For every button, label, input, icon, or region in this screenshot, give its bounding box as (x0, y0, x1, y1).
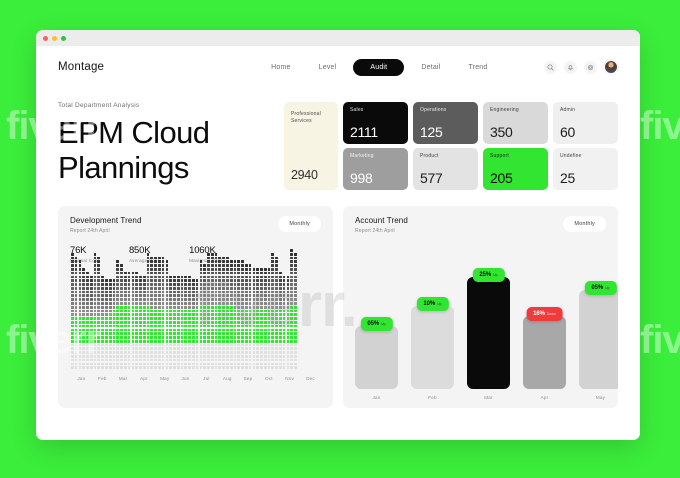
dot-column (279, 272, 282, 369)
development-trend-panel: Development Trend Report 24th April Mont… (58, 206, 333, 408)
brand-logo[interactable]: Montage (58, 61, 104, 73)
dot-cell (283, 347, 286, 350)
dot-cell (150, 310, 153, 313)
stat-card-marketing[interactable]: Marketing 998 (343, 148, 408, 190)
dot-cell (222, 306, 225, 309)
dot-cell (279, 276, 282, 279)
dot-cell (181, 310, 184, 313)
dot-cell (260, 298, 263, 301)
dot-cell (132, 291, 135, 294)
dot-cell (105, 310, 108, 313)
dot-cell (234, 336, 237, 339)
dot-cell (150, 279, 153, 282)
dot-cell (97, 351, 100, 354)
dot-cell (253, 283, 256, 286)
dot-cell (79, 264, 82, 267)
dot-cell (222, 332, 225, 335)
dot-cell (226, 363, 229, 366)
dot-column (290, 249, 293, 369)
bar-group[interactable]: 10%UpFeb (411, 306, 454, 400)
dot-cell (207, 306, 210, 309)
dot-cell (287, 291, 290, 294)
dot-cell (75, 321, 78, 324)
bar-group[interactable]: 25%UpMar (467, 277, 510, 400)
dot-cell (116, 268, 119, 271)
dot-cell (222, 313, 225, 316)
dot-cell (71, 276, 74, 279)
dot-cell (79, 321, 82, 324)
dot-cell (143, 317, 146, 320)
dot-cell (268, 336, 271, 339)
dot-cell (203, 276, 206, 279)
dot-cell (173, 313, 176, 316)
stat-value: 125 (420, 125, 442, 139)
dot-cell (154, 276, 157, 279)
dot-cell (211, 302, 214, 305)
dot-cell (147, 294, 150, 297)
dot-cell (203, 306, 206, 309)
dot-cell (268, 363, 271, 366)
dot-cell (275, 287, 278, 290)
dot-cell (192, 351, 195, 354)
dot-cell (234, 344, 237, 347)
dot-cell (79, 268, 82, 271)
dot-cell (271, 283, 274, 286)
period-selector-monthly[interactable]: Monthly (563, 216, 606, 232)
dot-cell (290, 291, 293, 294)
close-icon[interactable] (43, 36, 48, 41)
dot-cell (253, 363, 256, 366)
dot-cell (109, 298, 112, 301)
dot-cell (116, 325, 119, 328)
dot-cell (71, 260, 74, 263)
dot-cell (94, 287, 97, 290)
dot-cell (120, 359, 123, 362)
bar[interactable]: 10%Up (411, 306, 454, 389)
dot-cell (143, 279, 146, 282)
dot-cell (188, 344, 191, 347)
dot-cell (256, 336, 259, 339)
dot-cell (230, 329, 233, 332)
watermark-bottom-right: fiverr (640, 318, 680, 363)
dot-cell (260, 325, 263, 328)
dot-cell (162, 347, 165, 350)
dot-cell (94, 332, 97, 335)
dot-cell (97, 317, 100, 320)
bar[interactable]: 16%Down (523, 316, 566, 389)
dot-cell (181, 336, 184, 339)
dot-cell (116, 332, 119, 335)
dot-cell (253, 321, 256, 324)
dot-column (82, 268, 85, 369)
dot-cell (241, 321, 244, 324)
dot-cell (294, 283, 297, 286)
dot-cell (169, 306, 172, 309)
dot-cell (90, 298, 93, 301)
dot-cell (215, 332, 218, 335)
nav-item-level[interactable]: Level (308, 59, 348, 76)
dot-cell (230, 294, 233, 297)
dot-cell (188, 313, 191, 316)
nav-item-detail[interactable]: Detail (410, 59, 451, 76)
dot-cell (188, 294, 191, 297)
dot-cell (150, 260, 153, 263)
dot-cell (237, 340, 240, 343)
dot-cell (143, 291, 146, 294)
dot-cell (71, 355, 74, 358)
dot-cell (192, 287, 195, 290)
dot-cell (97, 366, 100, 369)
dot-cell (90, 344, 93, 347)
dot-cell (113, 313, 116, 316)
dot-cell (147, 298, 150, 301)
dot-cell (279, 310, 282, 313)
x-axis-label: Nov (279, 376, 300, 381)
dot-cell (109, 279, 112, 282)
dot-cell (264, 351, 267, 354)
dot-cell (287, 276, 290, 279)
dot-cell (226, 344, 229, 347)
dot-cell (75, 264, 78, 267)
dot-cell (222, 325, 225, 328)
dot-cell (234, 302, 237, 305)
dot-cell (101, 351, 104, 354)
dot-cell (241, 336, 244, 339)
dot-cell (120, 294, 123, 297)
dot-cell (264, 298, 267, 301)
dot-cell (135, 329, 138, 332)
bar[interactable]: 05%Up (579, 290, 618, 389)
dot-cell (226, 336, 229, 339)
dot-cell (139, 306, 142, 309)
stat-value: 350 (490, 125, 512, 139)
dot-cell (256, 306, 259, 309)
dot-cell (279, 287, 282, 290)
dot-cell (260, 276, 263, 279)
dot-cell (94, 317, 97, 320)
dot-cell (120, 329, 123, 332)
dot-cell (218, 306, 221, 309)
dot-cell (218, 283, 221, 286)
dot-cell (215, 287, 218, 290)
dot-cell (135, 366, 138, 369)
dot-cell (283, 294, 286, 297)
dot-cell (71, 336, 74, 339)
dot-cell (294, 321, 297, 324)
stat-label: Professional Services (291, 111, 331, 125)
dot-cell (226, 283, 229, 286)
dot-cell (79, 325, 82, 328)
dot-cell (241, 272, 244, 275)
dot-cell (207, 332, 210, 335)
bar-group[interactable]: 05%UpJan (355, 326, 398, 400)
dot-cell (124, 340, 127, 343)
dot-cell (253, 279, 256, 282)
dot-cell (241, 344, 244, 347)
dot-cell (75, 363, 78, 366)
dot-cell (150, 336, 153, 339)
x-axis-label: Oct (258, 376, 279, 381)
dot-cell (158, 298, 161, 301)
dot-cell (245, 279, 248, 282)
dot-cell (234, 264, 237, 267)
dot-column (143, 276, 146, 369)
dot-cell (154, 287, 157, 290)
dot-cell (173, 287, 176, 290)
dot-cell (79, 283, 82, 286)
dot-cell (188, 287, 191, 290)
dot-cell (166, 321, 169, 324)
stat-card-professional-services[interactable]: Professional Services 2940 (284, 102, 338, 190)
dot-cell (264, 294, 267, 297)
search-icon[interactable] (544, 61, 557, 74)
minimize-icon[interactable] (52, 36, 57, 41)
dot-cell (184, 347, 187, 350)
dot-column (124, 272, 127, 369)
dot-cell (158, 287, 161, 290)
dot-cell (90, 302, 93, 305)
maximize-icon[interactable] (61, 36, 66, 41)
dot-cell (120, 302, 123, 305)
dot-cell (71, 359, 74, 362)
badge-direction: Up (493, 273, 498, 277)
dot-cell (260, 332, 263, 335)
dot-cell (101, 363, 104, 366)
dot-column (166, 260, 169, 369)
bar-group[interactable]: 05%UpMay (579, 290, 618, 400)
dot-cell (139, 351, 142, 354)
dot-cell (268, 298, 271, 301)
dot-cell (109, 283, 112, 286)
dot-cell (230, 272, 233, 275)
dot-cell (283, 291, 286, 294)
dot-cell (264, 347, 267, 350)
dot-cell (97, 294, 100, 297)
dot-cell (222, 340, 225, 343)
dot-cell (181, 363, 184, 366)
dot-column (120, 264, 123, 369)
dot-cell (158, 302, 161, 305)
bar[interactable]: 25%Up (467, 277, 510, 389)
dot-cell (271, 321, 274, 324)
dot-cell (230, 355, 233, 358)
dot-cell (249, 313, 252, 316)
dot-cell (154, 355, 157, 358)
stat-card-admin[interactable]: Admin 60 (553, 102, 618, 144)
dot-cell (253, 298, 256, 301)
dot-cell (234, 279, 237, 282)
dot-cell (154, 344, 157, 347)
bar[interactable]: 05%Up (355, 326, 398, 389)
dot-cell (82, 279, 85, 282)
dot-cell (200, 287, 203, 290)
dot-cell (256, 363, 259, 366)
dot-cell (101, 294, 104, 297)
badge-percent: 25% (479, 272, 491, 278)
dot-cell (290, 279, 293, 282)
dot-cell (253, 317, 256, 320)
dot-cell (287, 298, 290, 301)
dot-cell (116, 317, 119, 320)
stat-card-product[interactable]: Product 577 (413, 148, 478, 190)
dot-cell (177, 332, 180, 335)
dot-cell (169, 283, 172, 286)
dot-cell (256, 321, 259, 324)
nav-item-audit[interactable]: Audit (353, 59, 404, 76)
dot-cell (256, 302, 259, 305)
dot-cell (139, 298, 142, 301)
dot-cell (283, 332, 286, 335)
dot-cell (211, 287, 214, 290)
dot-cell (135, 310, 138, 313)
dot-cell (162, 302, 165, 305)
dot-cell (109, 291, 112, 294)
dot-cell (287, 287, 290, 290)
dot-cell (196, 325, 199, 328)
dot-cell (173, 310, 176, 313)
dot-cell (290, 363, 293, 366)
dot-cell (184, 355, 187, 358)
dot-cell (294, 268, 297, 271)
dot-cell (143, 283, 146, 286)
dot-cell (162, 359, 165, 362)
account-trend-panel: Account Trend Report 24th April Monthly … (343, 206, 618, 408)
dot-cell (169, 355, 172, 358)
dot-cell (150, 344, 153, 347)
dot-cell (135, 287, 138, 290)
dot-cell (162, 355, 165, 358)
dot-cell (245, 340, 248, 343)
dot-cell (90, 366, 93, 369)
dot-cell (287, 325, 290, 328)
dot-cell (268, 302, 271, 305)
dot-cell (132, 355, 135, 358)
dot-cell (173, 344, 176, 347)
dot-cell (275, 268, 278, 271)
dot-cell (86, 279, 89, 282)
dot-cell (143, 313, 146, 316)
dot-cell (234, 268, 237, 271)
dot-cell (71, 344, 74, 347)
dot-cell (211, 291, 214, 294)
dot-cell (188, 329, 191, 332)
dot-cell (279, 336, 282, 339)
dot-cell (86, 272, 89, 275)
dot-cell (90, 336, 93, 339)
dot-cell (207, 344, 210, 347)
dot-cell (150, 332, 153, 335)
dot-cell (192, 279, 195, 282)
dot-cell (294, 260, 297, 263)
dot-cell (222, 291, 225, 294)
dot-cell (113, 329, 116, 332)
dot-cell (237, 347, 240, 350)
dot-cell (181, 306, 184, 309)
bar-group[interactable]: 16%DownApr (523, 316, 566, 400)
dot-cell (192, 321, 195, 324)
avatar[interactable] (604, 60, 618, 74)
dot-cell (283, 359, 286, 362)
dot-cell (154, 366, 157, 369)
dot-cell (275, 264, 278, 267)
dot-cell (154, 272, 157, 275)
dot-cell (234, 355, 237, 358)
dot-cell (268, 268, 271, 271)
stat-card-sales[interactable]: Sales 2111 (343, 102, 408, 144)
dot-cell (218, 325, 221, 328)
dot-cell (283, 336, 286, 339)
dot-cell (287, 359, 290, 362)
dot-cell (169, 325, 172, 328)
dot-cell (82, 291, 85, 294)
dot-cell (86, 291, 89, 294)
dot-cell (86, 283, 89, 286)
stat-card-operations[interactable]: Operations 125 (413, 102, 478, 144)
dot-cell (249, 332, 252, 335)
dot-cell (124, 283, 127, 286)
dot-cell (109, 310, 112, 313)
dot-cell (230, 302, 233, 305)
dot-cell (132, 359, 135, 362)
dot-cell (230, 325, 233, 328)
dot-cell (256, 332, 259, 335)
dot-cell (162, 268, 165, 271)
dot-cell (196, 336, 199, 339)
dot-cell (249, 279, 252, 282)
dot-cell (79, 294, 82, 297)
dot-cell (215, 359, 218, 362)
dot-cell (124, 332, 127, 335)
dot-cell (113, 321, 116, 324)
bell-icon[interactable] (564, 61, 577, 74)
dot-cell (241, 317, 244, 320)
dot-cell (128, 302, 131, 305)
dot-cell (207, 268, 210, 271)
dot-cell (203, 363, 206, 366)
stat-card-engineering[interactable]: Engineering 350 (483, 102, 548, 144)
dot-cell (211, 310, 214, 313)
dot-cell (260, 321, 263, 324)
dot-cell (79, 351, 82, 354)
dot-cell (218, 276, 221, 279)
dot-cell (94, 279, 97, 282)
dot-cell (196, 359, 199, 362)
dot-cell (271, 359, 274, 362)
dot-cell (230, 347, 233, 350)
dot-cell (71, 257, 74, 260)
dot-cell (71, 291, 74, 294)
dot-cell (173, 291, 176, 294)
dot-cell (147, 321, 150, 324)
dot-cell (253, 287, 256, 290)
dot-cell (253, 302, 256, 305)
dot-cell (192, 344, 195, 347)
nav-item-trend[interactable]: Trend (457, 59, 498, 76)
dot-cell (162, 317, 165, 320)
dot-cell (150, 355, 153, 358)
stat-card-support[interactable]: Support 205 (483, 148, 548, 190)
dot-cell (177, 310, 180, 313)
nav-item-home[interactable]: Home (260, 59, 301, 76)
dot-cell (181, 329, 184, 332)
dot-cell (132, 302, 135, 305)
period-selector-monthly[interactable]: Monthly (278, 216, 321, 232)
dot-cell (143, 340, 146, 343)
dot-cell (75, 306, 78, 309)
stat-card-undefine[interactable]: Undefine 25 (553, 148, 618, 190)
dot-cell (90, 287, 93, 290)
gear-icon[interactable] (584, 61, 597, 74)
